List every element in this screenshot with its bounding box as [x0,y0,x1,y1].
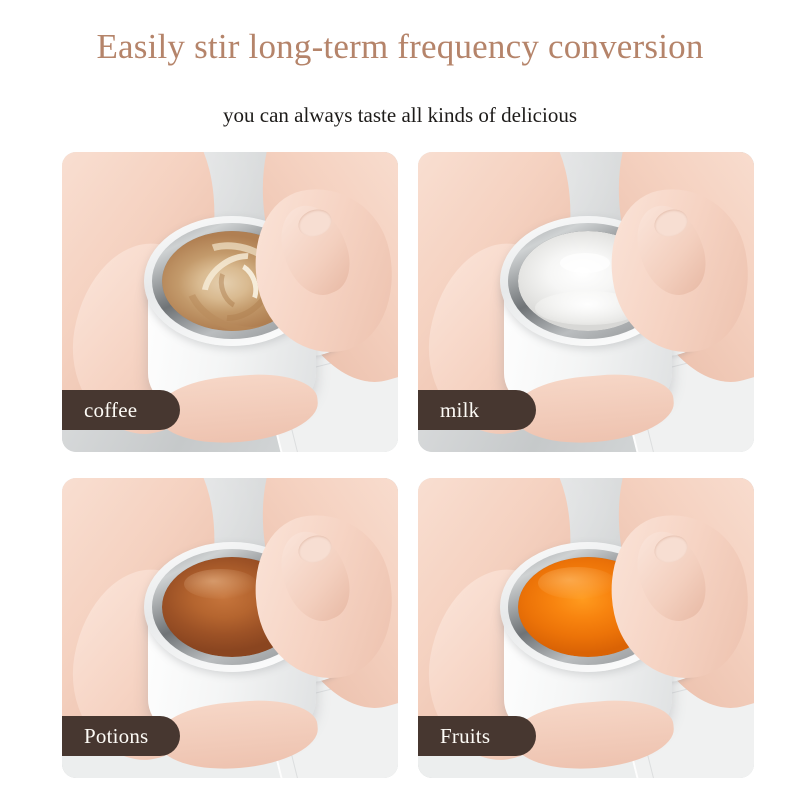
gallery-panel-fruits[interactable]: Fruits [418,478,754,778]
product-feature-page: Easily stir long-term frequency conversi… [0,0,800,800]
milk-surface-highlight [560,253,610,273]
page-headline: Easily stir long-term frequency conversi… [0,26,800,68]
panel-caption: Potions [62,716,180,756]
page-subheadline: you can always taste all kinds of delici… [0,102,800,128]
panel-caption: coffee [62,390,180,430]
gallery-panel-potions[interactable]: Potions [62,478,398,778]
gallery-panel-milk[interactable]: milk [418,152,754,452]
gallery-panel-coffee[interactable]: coffee [62,152,398,452]
beverage-gallery-grid: coffee [62,152,738,778]
panel-caption: milk [418,390,536,430]
panel-caption: Fruits [418,716,536,756]
